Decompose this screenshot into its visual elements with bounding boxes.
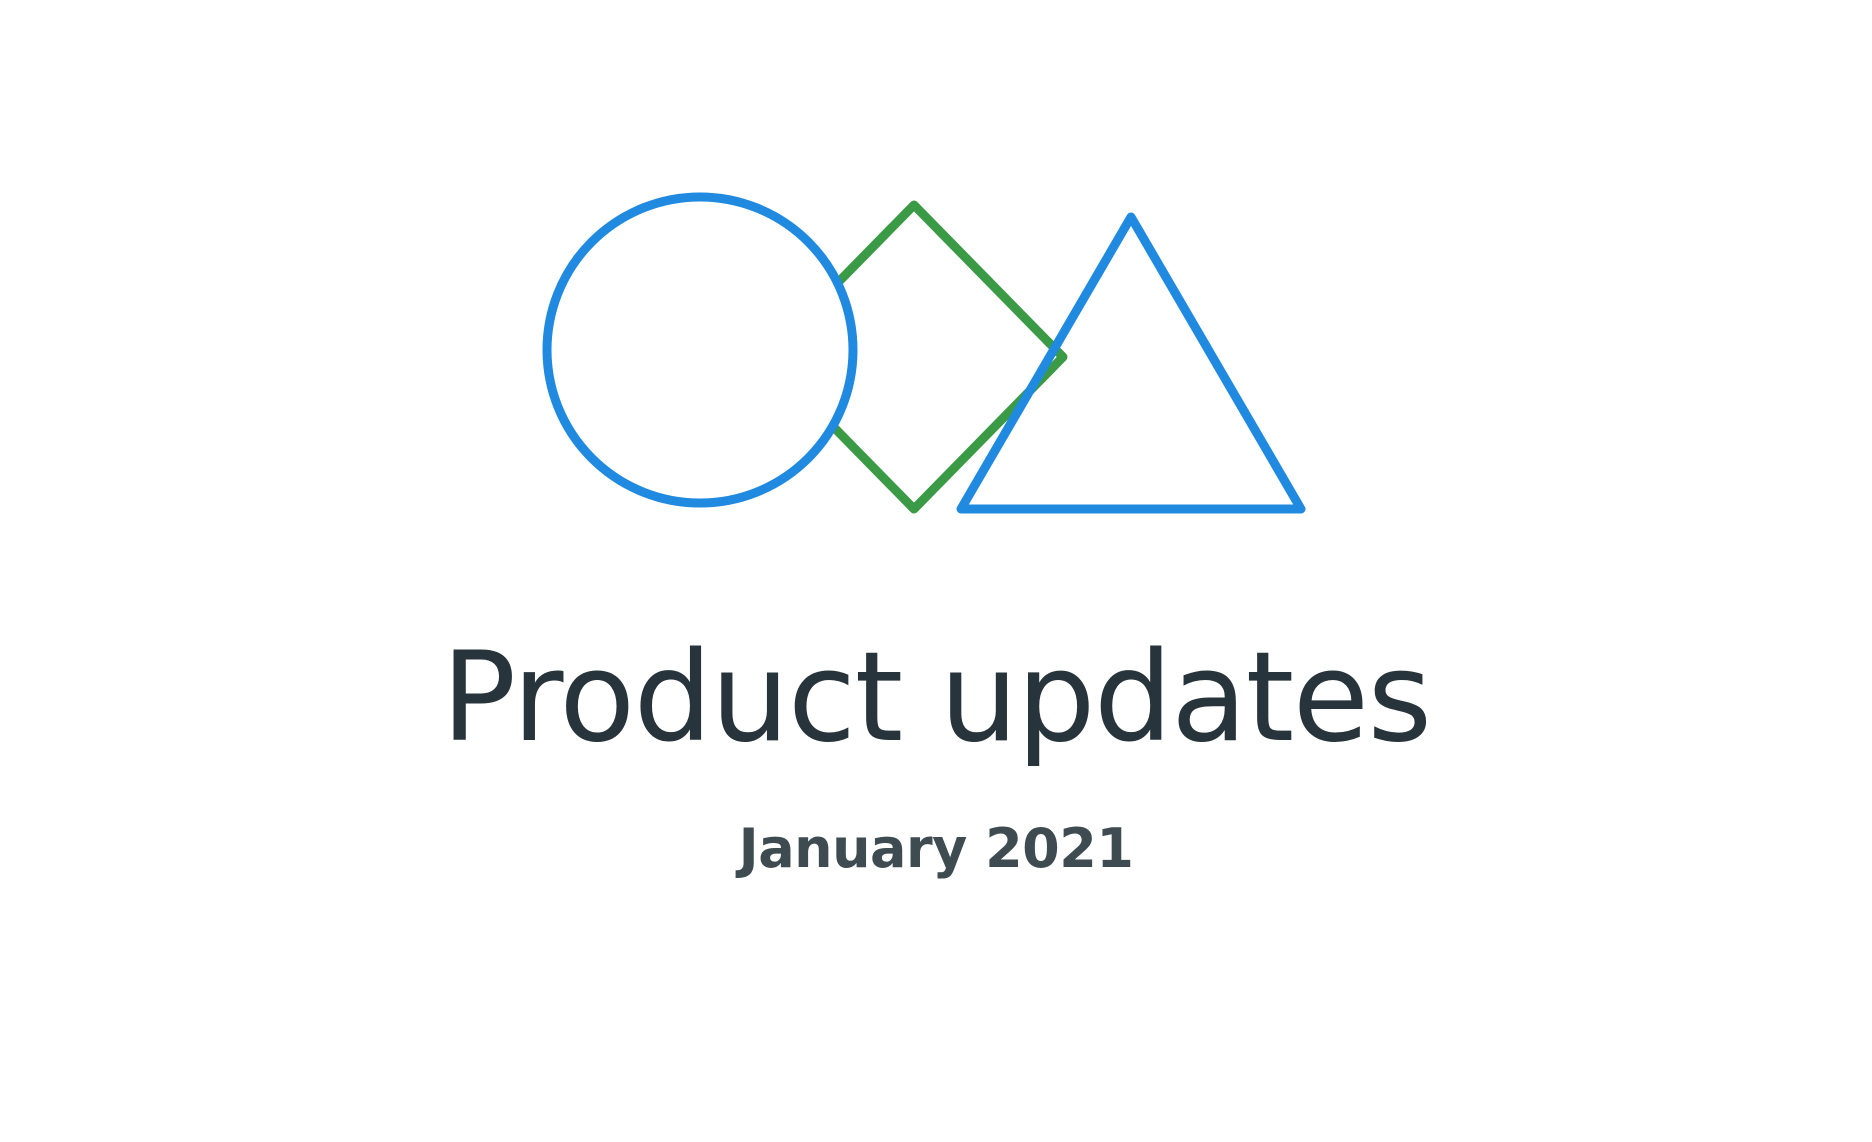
logo-svg: [0, 0, 1872, 600]
three-shapes-logo: [0, 0, 1872, 600]
page-subtitle: January 2021: [0, 822, 1872, 876]
slide-text-block: Product updates January 2021: [0, 636, 1872, 876]
circle-shape: [547, 197, 853, 503]
slide-canvas: Product updates January 2021: [0, 0, 1872, 1142]
page-title: Product updates: [0, 636, 1872, 760]
